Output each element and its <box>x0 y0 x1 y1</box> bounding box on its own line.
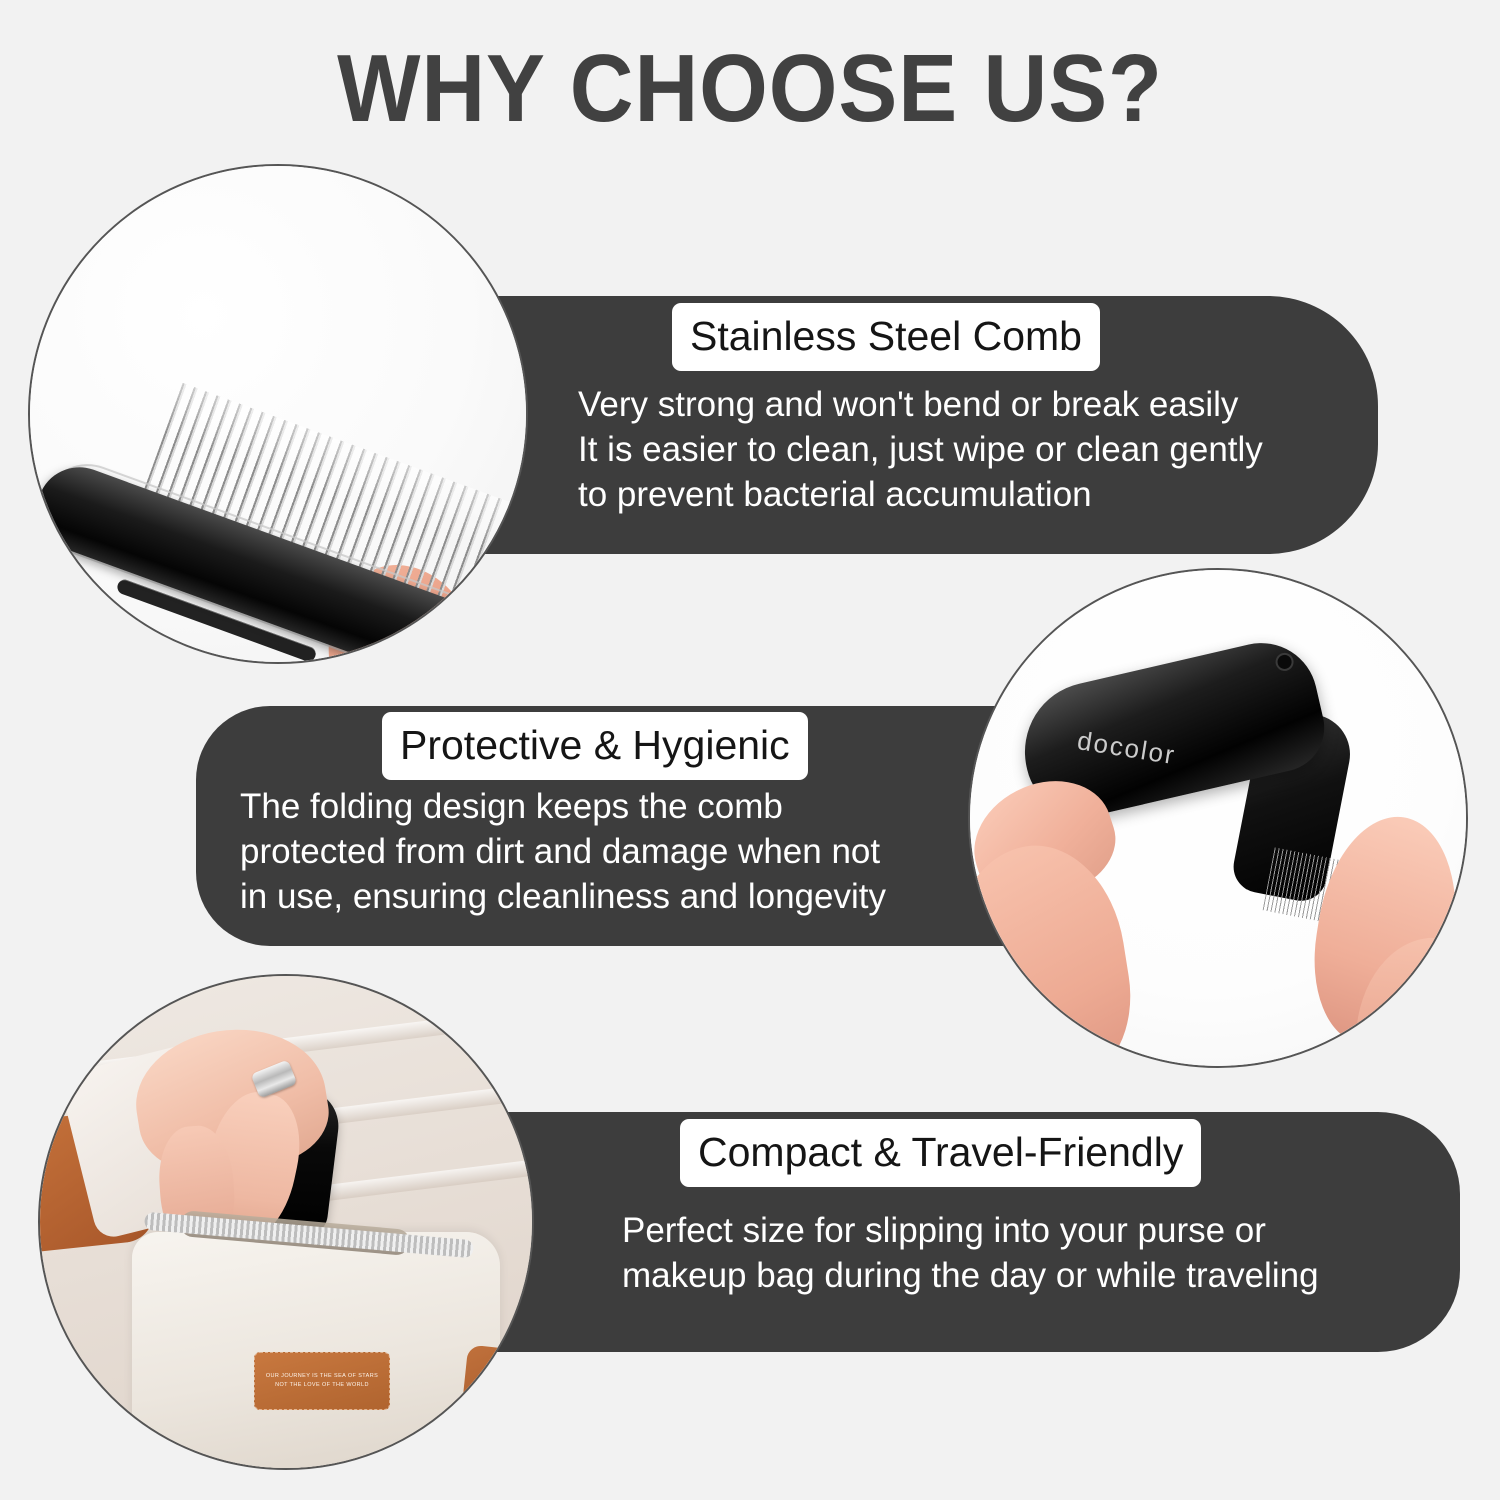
feature-body-3: Perfect size for slipping into your purs… <box>622 1208 1319 1298</box>
feature-body-2: The folding design keeps the comb protec… <box>240 784 886 919</box>
infographic-stage: WHY CHOOSE US? Very strong and won't ben… <box>0 0 1500 1500</box>
patch-line-2: NOT THE LOVE OF THE WORLD <box>275 1381 369 1390</box>
left-hand <box>968 784 1170 1068</box>
feature-photo-3: docolor OUR JOURNEY IS THE SEA OF STARS … <box>38 974 534 1470</box>
hand-shape <box>136 1030 356 1230</box>
feature-photo-1 <box>28 164 528 664</box>
feature-heading-2: Protective & Hygienic <box>382 712 808 780</box>
folded-comb-in-hands-image: docolor <box>970 570 1466 1066</box>
page-title: WHY CHOOSE US? <box>60 34 1440 144</box>
makeup-bag <box>132 1232 500 1470</box>
comb-closeup-image <box>30 166 526 662</box>
feature-heading-1: Stainless Steel Comb <box>672 303 1100 371</box>
brand-logo: docolor <box>1075 725 1178 771</box>
finger-shape <box>968 834 1144 1068</box>
feature-photo-2: docolor <box>968 568 1468 1068</box>
bag-leather-patch: OUR JOURNEY IS THE SEA OF STARS NOT THE … <box>254 1352 390 1410</box>
feature-body-1: Very strong and won't bend or break easi… <box>578 382 1263 517</box>
tan-leather-accent-right <box>460 1345 534 1432</box>
patch-line-1: OUR JOURNEY IS THE SEA OF STARS <box>266 1372 378 1381</box>
comb-into-makeup-bag-image: docolor OUR JOURNEY IS THE SEA OF STARS … <box>40 976 532 1468</box>
right-hand <box>1308 816 1468 1068</box>
feature-heading-3: Compact & Travel-Friendly <box>680 1119 1201 1187</box>
